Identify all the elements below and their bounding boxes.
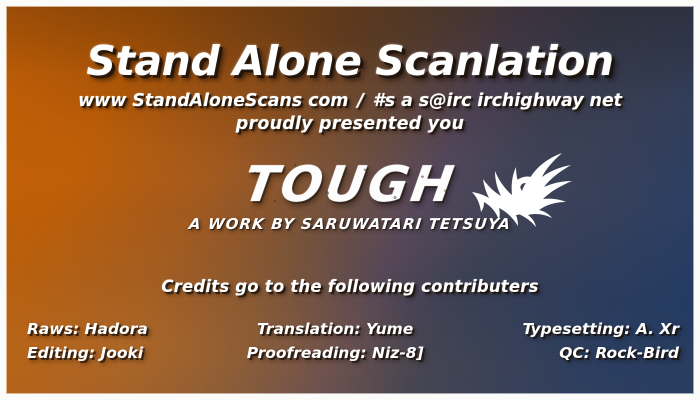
credits-column-middle: Translation: Yume Proofreading: Niz-8] <box>247 317 424 365</box>
credit-entry-editing: Editing: Jooki <box>27 341 148 365</box>
scanlation-group-title: Stand Alone Scanlation <box>7 39 693 83</box>
contact-line: www StandAloneScans com/#s a s@irc irchi… <box>7 91 693 112</box>
work-author-credit: A WORK BY SARUWATARI TETSUYA <box>6 215 694 234</box>
credit-entry-qc: QC: Rock-Bird <box>523 341 679 365</box>
credits-heading: Credits go to the following contributers <box>7 277 693 297</box>
work-logo-block: TOUGH A WORK BY SARUWATARI TETSUYA <box>7 157 693 247</box>
credits-column-right: Typesetting: A. Xr QC: Rock-Bird <box>523 317 679 365</box>
presented-by-line: proudly presented you <box>7 114 693 135</box>
credit-entry-translation: Translation: Yume <box>247 317 424 341</box>
page-content: Stand Alone Scanlation www StandAloneSca… <box>7 7 693 393</box>
website-text: www StandAloneScans com <box>78 91 348 111</box>
credit-entry-raws: Raws: Hadora <box>27 317 148 341</box>
credit-entry-typesetting: Typesetting: A. Xr <box>523 317 679 341</box>
irc-channel-text: #s a s@irc irchighway net <box>373 91 622 111</box>
scanlation-credits-page: Stand Alone Scanlation www StandAloneSca… <box>0 0 700 400</box>
credits-column-left: Raws: Hadora Editing: Jooki <box>27 317 148 365</box>
credits-grid: Raws: Hadora Editing: Jooki Translation:… <box>27 317 679 365</box>
credit-entry-proofreading: Proofreading: Niz-8] <box>247 341 424 365</box>
contact-separator: / <box>348 91 372 111</box>
tribal-wing-tattoo-icon <box>470 148 574 230</box>
work-title-tough: TOUGH <box>3 159 697 211</box>
